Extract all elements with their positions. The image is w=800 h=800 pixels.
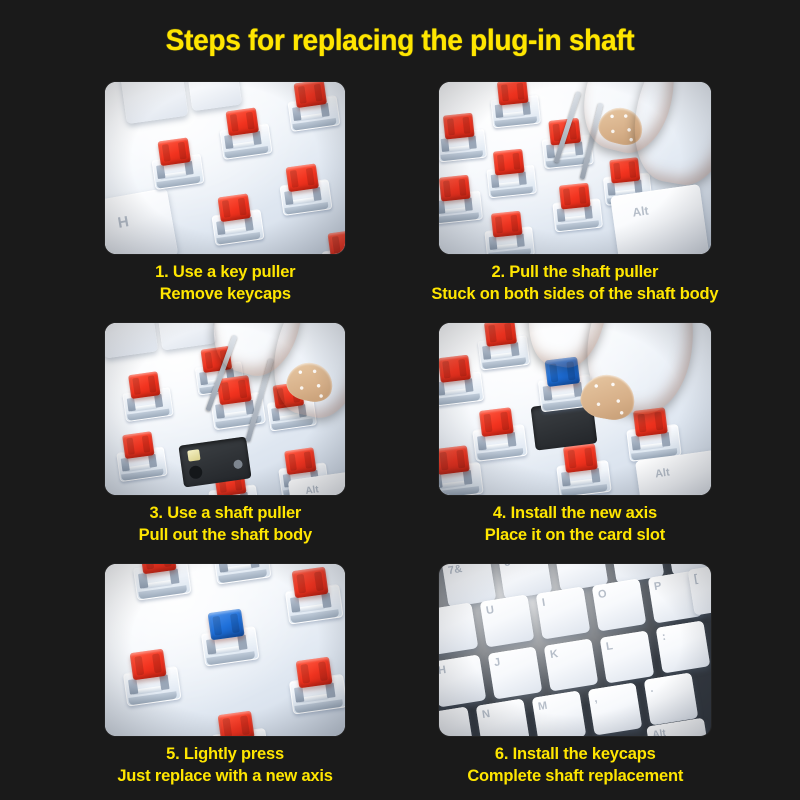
step-caption-2-line1: 2. Pull the shaft puller	[432, 261, 719, 283]
switch-red	[283, 82, 341, 134]
keycap-colon: :	[656, 621, 711, 674]
step-caption-2-line2: Stuck on both sides of the shaft body	[432, 283, 719, 305]
keycap-label: :	[661, 631, 667, 643]
photo-step-4-install-new-axis: Alt	[439, 323, 711, 495]
keycap-label: [	[693, 573, 699, 585]
keycap-label: N	[481, 708, 491, 721]
steps-row-3: 5. Lightly press Just replace with a new…	[0, 564, 800, 787]
keycap-alt: Alt	[610, 184, 710, 254]
keycap-h: H	[439, 655, 486, 708]
switch-red	[549, 182, 603, 235]
step-caption-6-line1: 6. Install the keycaps	[467, 743, 683, 765]
switch-red	[481, 210, 535, 254]
steps-grid: H 1. Use a key puller Remove keycaps	[0, 82, 800, 791]
infographic-page: Steps for replacing the plug-in shaft H	[0, 0, 800, 800]
step-caption-3: 3. Use a shaft puller Pull out the shaft…	[138, 502, 311, 546]
keycap-label-h: H	[116, 213, 130, 232]
switch-red	[439, 112, 487, 165]
step-card-3: Alt 3. Use a shaft puller Pull out the s…	[80, 323, 370, 546]
switch-red	[275, 162, 333, 218]
switch-red	[147, 136, 205, 192]
keycap-o: O	[592, 579, 647, 632]
keycap-label: H	[439, 664, 447, 677]
keycap-n: N	[476, 699, 531, 736]
keycap-comma: ,	[588, 683, 643, 736]
keycap-m: M	[532, 691, 587, 736]
keycap-k: K	[544, 639, 599, 692]
step-card-6: 7& 8* Y U I O P [ H J K L	[430, 564, 720, 787]
keycap-label: 8*	[503, 564, 515, 569]
switch-red	[118, 647, 182, 709]
keycap-label-alt: Alt	[654, 467, 670, 481]
step-caption-6-line2: Complete shaft replacement	[467, 765, 683, 787]
switch-red	[487, 82, 541, 130]
switch-red	[483, 148, 537, 201]
keycap-label: I	[541, 597, 546, 609]
socket-led	[187, 449, 200, 462]
photo-step-1-remove-keycaps: H	[105, 82, 345, 254]
step-caption-4-line2: Place it on the card slot	[485, 524, 665, 546]
step-caption-6: 6. Install the keycaps Complete shaft re…	[467, 743, 683, 787]
switch-red	[474, 323, 531, 373]
photo-step-6-install-keycaps: 7& 8* Y U I O P [ H J K L	[439, 564, 711, 736]
keycap-label-alt: Alt	[632, 204, 650, 220]
switch-red	[215, 106, 273, 162]
socket-pin-hole	[233, 459, 243, 469]
keycap-i: I	[536, 587, 591, 640]
keycap-label: P	[653, 580, 662, 593]
page-title: Steps for replacing the plug-in shaft	[24, 24, 776, 58]
step-card-5: 5. Lightly press Just replace with a new…	[80, 564, 370, 787]
step-caption-5-line2: Just replace with a new axis	[117, 765, 332, 787]
keycap-label: Alt	[652, 728, 667, 736]
steps-row-1: H 1. Use a key puller Remove keycaps	[0, 82, 800, 305]
step-caption-1-line1: 1. Use a key puller	[155, 261, 295, 283]
keycap-label: L	[605, 640, 614, 653]
step-card-1: H 1. Use a key puller Remove keycaps	[80, 82, 370, 305]
step-caption-2: 2. Pull the shaft puller Stuck on both s…	[432, 261, 719, 305]
keycap-y: Y	[439, 603, 478, 656]
switch-red	[439, 353, 484, 408]
step-caption-4: 4. Install the new axis Place it on the …	[485, 502, 665, 546]
step-caption-5-line1: 5. Lightly press	[117, 743, 332, 765]
photo-step-3-pull-out-shaft: Alt	[105, 323, 345, 495]
keycap-label: 7&	[447, 564, 463, 577]
switch-red	[439, 444, 484, 495]
keycap-h: H	[105, 188, 178, 254]
step-card-4: Alt 4. Install the new axis Place it on …	[430, 323, 720, 546]
switch-red	[207, 192, 265, 248]
step-caption-3-line2: Pull out the shaft body	[138, 524, 311, 546]
keycap-label-alt: Alt	[305, 484, 320, 495]
keycap-u: U	[480, 595, 535, 648]
keycap-label: ,	[593, 693, 598, 705]
photo-step-5-lightly-press	[105, 564, 345, 736]
keycap-label: U	[485, 604, 495, 617]
switch-red	[284, 655, 345, 717]
step-caption-1-line2: Remove keycaps	[155, 283, 295, 305]
keycap-label: .	[649, 683, 654, 695]
switch-red	[280, 565, 344, 627]
step-caption-1: 1. Use a key puller Remove keycaps	[155, 261, 295, 305]
step-caption-5: 5. Lightly press Just replace with a new…	[117, 743, 332, 787]
switch-red	[118, 370, 174, 424]
keycap-label: J	[493, 656, 501, 669]
switch-red	[552, 442, 612, 495]
step-card-2: Alt 2. Pull the shaft puller Stuck on bo…	[430, 82, 720, 305]
keycap-label: M	[537, 700, 548, 713]
switch-red	[439, 174, 483, 227]
switch-blue-installed	[196, 607, 260, 669]
keycap-label: K	[549, 648, 559, 661]
switch-red	[112, 430, 168, 484]
socket-pin-hole	[188, 465, 203, 480]
step-caption-3-line1: 3. Use a shaft puller	[138, 502, 311, 524]
keycap-j: J	[488, 647, 543, 700]
steps-row-2: Alt 3. Use a shaft puller Pull out the s…	[0, 323, 800, 546]
keycap-period: .	[644, 673, 699, 726]
keycap-label: O	[597, 588, 607, 601]
step-caption-4-line1: 4. Install the new axis	[485, 502, 665, 524]
photo-step-2-shaft-puller: Alt	[439, 82, 711, 254]
keycap-l: L	[600, 631, 655, 684]
